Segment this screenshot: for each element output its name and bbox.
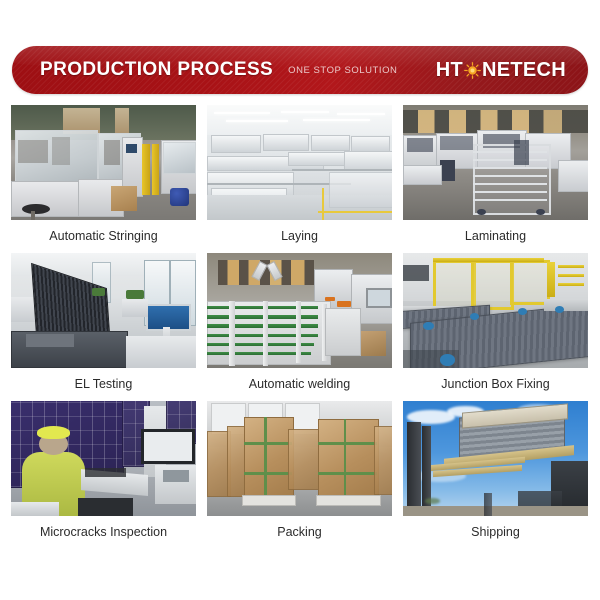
process-step-photo-shipping — [403, 401, 588, 516]
production-process-banner: PRODUCTION PROCESS ONE STOP SOLUTION HT — [12, 46, 588, 94]
process-step-grid: Automatic Stringing — [11, 105, 589, 548]
process-step-card[interactable]: EL Testing — [11, 253, 196, 400]
page-title: PRODUCTION PROCESS — [40, 59, 273, 81]
process-step-caption: EL Testing — [11, 368, 196, 400]
brand-logo: HT — [436, 59, 566, 82]
brand-logo-suffix: NETECH — [482, 59, 566, 82]
process-step-card[interactable]: Packing — [207, 401, 392, 548]
process-step-photo-welding — [207, 253, 392, 368]
process-step-photo-junction-box — [403, 253, 588, 368]
page-subtitle: ONE STOP SOLUTION — [288, 65, 397, 76]
process-step-photo-stringing — [11, 105, 196, 220]
process-step-caption: Microcracks Inspection — [11, 516, 196, 548]
process-step-card[interactable]: Microcracks Inspection — [11, 401, 196, 548]
process-step-caption: Junction Box Fixing — [403, 368, 588, 400]
process-step-card[interactable]: Junction Box Fixing — [403, 253, 588, 400]
process-step-photo-packing — [207, 401, 392, 516]
process-step-card[interactable]: Laying — [207, 105, 392, 252]
brand-logo-prefix: HT — [436, 59, 463, 82]
process-step-card[interactable]: Laminating — [403, 105, 588, 252]
process-step-caption: Automatic welding — [207, 368, 392, 400]
process-step-photo-el-testing — [11, 253, 196, 368]
process-step-photo-microcracks — [11, 401, 196, 516]
process-step-photo-laminating — [403, 105, 588, 220]
process-step-caption: Laminating — [403, 220, 588, 252]
sun-icon — [464, 62, 481, 79]
process-step-caption: Laying — [207, 220, 392, 252]
process-step-card[interactable]: Automatic Stringing — [11, 105, 196, 252]
process-step-caption: Shipping — [403, 516, 588, 548]
process-step-caption: Packing — [207, 516, 392, 548]
process-step-card[interactable]: Automatic welding — [207, 253, 392, 400]
process-step-card[interactable]: Shipping — [403, 401, 588, 548]
process-step-caption: Automatic Stringing — [11, 220, 196, 252]
process-step-photo-laying — [207, 105, 392, 220]
